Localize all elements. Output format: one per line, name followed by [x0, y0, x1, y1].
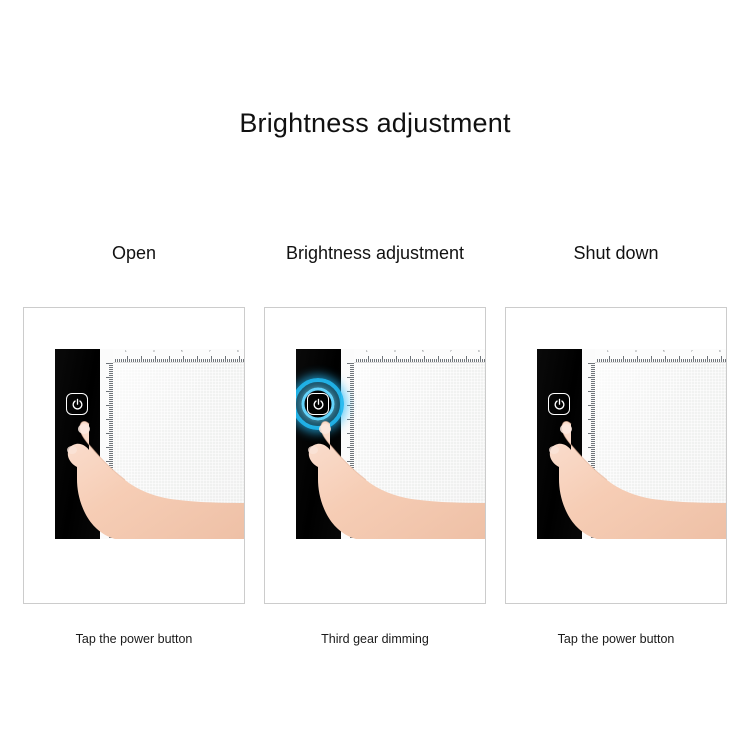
ruler-tick — [588, 377, 595, 378]
ruler-tick — [725, 359, 726, 362]
ruler-tick — [199, 359, 200, 362]
column-heading: Open — [112, 240, 156, 266]
ruler-tick — [137, 359, 138, 362]
product-photo: 13579 — [55, 349, 245, 539]
ruler-tick — [400, 359, 401, 362]
ruler-tick — [691, 359, 692, 362]
ruler-tick — [436, 359, 437, 362]
ruler-tick — [149, 359, 150, 362]
ruler-tick — [380, 359, 381, 362]
ruler-tick — [141, 356, 142, 362]
step-caption: Tap the power button — [558, 632, 675, 646]
ruler-tick — [347, 517, 354, 518]
ruler-tick — [629, 359, 630, 362]
ruler-tick — [426, 359, 427, 362]
ruler-tick — [347, 433, 354, 434]
ruler-tick — [376, 359, 377, 362]
ruler-tick — [106, 475, 113, 476]
ruler-tick — [121, 359, 122, 362]
ruler-tick — [360, 359, 361, 362]
ruler-tick — [619, 359, 620, 362]
ruler-tick — [106, 517, 113, 518]
ruler-tick — [627, 359, 628, 362]
ruler-tick — [155, 356, 156, 362]
device-bezel — [537, 349, 582, 539]
ruler-tick — [347, 531, 354, 532]
ruler-tick — [169, 356, 170, 362]
ruler-tick — [719, 359, 720, 362]
ruler-tick — [605, 359, 606, 362]
ruler-tick — [233, 359, 234, 362]
ruler-tick — [442, 359, 443, 362]
ruler-tick — [615, 359, 616, 362]
ruler-tick — [402, 359, 403, 362]
ruler-tick — [607, 359, 608, 362]
ruler-tick — [635, 359, 636, 362]
ruler-tick — [695, 359, 696, 362]
step-column-shutdown: Shut down 13579 — [504, 240, 728, 646]
ruler-tick — [115, 359, 116, 362]
ruler-tick — [466, 356, 467, 362]
ruler-tick — [456, 359, 457, 362]
ruler-tick — [106, 419, 113, 420]
ruler-tick — [679, 356, 680, 362]
ruler-tick — [147, 359, 148, 362]
ruler-tick — [219, 359, 220, 362]
ruler-tick — [665, 356, 666, 362]
ruler-tick — [709, 359, 710, 362]
product-photo: 13579 — [537, 349, 727, 539]
ruler-tick — [139, 359, 140, 362]
ruler-tick — [106, 363, 113, 364]
ruler-tick — [452, 356, 453, 362]
ruler-tick — [183, 356, 184, 362]
ruler-number: 3 — [153, 349, 155, 353]
ruler-tick — [701, 359, 702, 362]
ruler-tick — [347, 461, 354, 462]
product-card[interactable]: 13579 — [264, 307, 486, 604]
ruler-tick — [181, 359, 182, 362]
ruler-tick — [229, 359, 230, 362]
ruler-tick — [366, 359, 367, 362]
ruler-tick — [588, 447, 595, 448]
horizontal-ruler: 13579 — [354, 349, 486, 363]
ruler-tick — [657, 359, 658, 362]
ruler-tick — [647, 359, 648, 362]
ruler-tick — [412, 359, 413, 362]
ruler-tick — [217, 359, 218, 362]
power-icon[interactable] — [66, 393, 88, 415]
ruler-tick — [406, 359, 407, 362]
horizontal-ruler: 13579 — [113, 349, 245, 363]
steps-container: Open 13579 — [22, 240, 728, 646]
ruler-tick — [347, 377, 354, 378]
ruler-tick — [106, 489, 113, 490]
ruler-tick — [189, 359, 190, 362]
ruler-number: 7 — [450, 349, 452, 353]
ruler-tick — [603, 359, 604, 362]
ruler-tick — [191, 359, 192, 362]
ruler-tick — [422, 359, 423, 362]
ruler-tick — [205, 359, 206, 362]
ruler-tick — [464, 359, 465, 362]
ruler-tick — [394, 359, 395, 362]
page-title: Brightness adjustment — [0, 108, 750, 139]
ruler-tick — [362, 359, 363, 362]
ruler-tick — [175, 359, 176, 362]
ruler-tick — [482, 359, 483, 362]
ruler-tick — [478, 359, 479, 362]
ruler-tick — [458, 359, 459, 362]
ruler-tick — [611, 359, 612, 362]
ruler-tick — [372, 359, 373, 362]
ruler-tick — [440, 359, 441, 362]
ruler-tick — [717, 359, 718, 362]
ruler-tick — [655, 359, 656, 362]
ruler-tick — [693, 356, 694, 362]
ruler-tick — [663, 359, 664, 362]
device-bezel — [296, 349, 341, 539]
column-heading: Brightness adjustment — [286, 240, 464, 266]
ruler-tick — [374, 359, 375, 362]
ruler-tick — [368, 356, 369, 362]
ruler-tick — [157, 359, 158, 362]
ruler-tick — [153, 359, 154, 362]
ruler-tick — [131, 359, 132, 362]
ruler-tick — [347, 405, 354, 406]
ruler-tick — [643, 359, 644, 362]
ruler-tick — [633, 359, 634, 362]
ruler-tick — [476, 359, 477, 362]
ruler-tick — [241, 359, 242, 362]
ruler-tick — [683, 359, 684, 362]
ruler-tick — [106, 391, 113, 392]
ruler-tick — [347, 363, 354, 364]
column-heading: Shut down — [573, 240, 658, 266]
product-photo: 13579 — [296, 349, 486, 539]
ruler-tick — [347, 419, 354, 420]
ruler-tick — [396, 356, 397, 362]
ruler-tick — [639, 359, 640, 362]
step-column-open: Open 13579 — [22, 240, 246, 646]
ruler-number: 7 — [209, 349, 211, 353]
vertical-ruler — [100, 349, 114, 539]
ruler-tick — [370, 359, 371, 362]
ruler-tick — [713, 359, 714, 362]
ruler-tick — [588, 517, 595, 518]
ruler-tick — [641, 359, 642, 362]
ruler-number: 1 — [366, 349, 368, 353]
ruler-tick — [203, 359, 204, 362]
ruler-tick — [347, 391, 354, 392]
ruler-tick — [129, 359, 130, 362]
ruler-tick — [227, 359, 228, 362]
ruler-tick — [609, 356, 610, 362]
ruler-number: 9 — [719, 349, 721, 353]
ruler-tick — [671, 359, 672, 362]
ruler-tick — [659, 359, 660, 362]
ruler-number: 1 — [125, 349, 127, 353]
ruler-tick — [159, 359, 160, 362]
ruler-tick — [106, 503, 113, 504]
ruler-tick — [432, 359, 433, 362]
ruler-tick — [398, 359, 399, 362]
ruler-tick — [588, 489, 595, 490]
ruler-tick — [623, 356, 624, 362]
ruler-tick — [588, 433, 595, 434]
ruler-tick — [215, 359, 216, 362]
ruler-tick — [669, 359, 670, 362]
ruler-tick — [649, 359, 650, 362]
light-panel — [595, 349, 727, 539]
ruler-tick — [347, 489, 354, 490]
ruler-tick — [689, 359, 690, 362]
ruler-tick — [434, 359, 435, 362]
ruler-tick — [347, 447, 354, 448]
ruler-tick — [621, 359, 622, 362]
ruler-tick — [715, 359, 716, 362]
ruler-tick — [588, 405, 595, 406]
ruler-tick — [667, 359, 668, 362]
ruler-tick — [143, 359, 144, 362]
ruler-tick — [588, 461, 595, 462]
ruler-tick — [450, 359, 451, 362]
ruler-number: 7 — [691, 349, 693, 353]
ruler-tick — [673, 359, 674, 362]
ruler-tick — [119, 359, 120, 362]
ruler-tick — [613, 359, 614, 362]
ruler-tick — [127, 356, 128, 362]
ruler-tick — [213, 359, 214, 362]
ruler-tick — [165, 359, 166, 362]
ruler-number: 9 — [478, 349, 480, 353]
ruler-tick — [179, 359, 180, 362]
ruler-tick — [588, 503, 595, 504]
ruler-tick — [187, 359, 188, 362]
ruler-tick — [106, 461, 113, 462]
ruler-tick — [197, 356, 198, 362]
horizontal-ruler: 13579 — [595, 349, 727, 363]
ruler-tick — [588, 531, 595, 532]
ruler-tick — [410, 356, 411, 362]
vertical-ruler — [582, 349, 596, 539]
ruler-tick — [388, 359, 389, 362]
ruler-tick — [723, 359, 724, 362]
ruler-tick — [681, 359, 682, 362]
ruler-tick — [424, 356, 425, 362]
ruler-tick — [106, 405, 113, 406]
ruler-number: 5 — [422, 349, 424, 353]
ruler-tick — [358, 359, 359, 362]
ruler-tick — [145, 359, 146, 362]
ruler-tick — [420, 359, 421, 362]
ruler-tick — [470, 359, 471, 362]
ruler-tick — [588, 391, 595, 392]
ruler-tick — [106, 377, 113, 378]
ruler-tick — [707, 356, 708, 362]
ruler-tick — [106, 447, 113, 448]
ruler-tick — [446, 359, 447, 362]
ruler-number: 3 — [394, 349, 396, 353]
ruler-tick — [231, 359, 232, 362]
ruler-tick — [448, 359, 449, 362]
ruler-tick — [185, 359, 186, 362]
ruler-tick — [237, 359, 238, 362]
ruler-tick — [438, 356, 439, 362]
ruler-tick — [347, 503, 354, 504]
ruler-tick — [588, 363, 595, 364]
ruler-tick — [125, 359, 126, 362]
ruler-tick — [705, 359, 706, 362]
ruler-tick — [651, 356, 652, 362]
ruler-tick — [390, 359, 391, 362]
ruler-number: 9 — [237, 349, 239, 353]
ruler-tick — [460, 359, 461, 362]
ruler-number: 5 — [181, 349, 183, 353]
ruler-tick — [661, 359, 662, 362]
ruler-tick — [472, 359, 473, 362]
power-icon[interactable] — [548, 393, 570, 415]
light-panel — [354, 349, 486, 539]
ruler-tick — [167, 359, 168, 362]
ruler-tick — [117, 359, 118, 362]
ruler-tick — [106, 433, 113, 434]
step-caption: Tap the power button — [76, 632, 193, 646]
ruler-tick — [193, 359, 194, 362]
ruler-tick — [386, 359, 387, 362]
ruler-tick — [599, 359, 600, 362]
ruler-tick — [211, 356, 212, 362]
ruler-tick — [171, 359, 172, 362]
device-bezel — [55, 349, 100, 539]
vertical-ruler — [341, 349, 355, 539]
ruler-tick — [631, 359, 632, 362]
product-card[interactable]: 13579 — [23, 307, 245, 604]
ruler-tick — [444, 359, 445, 362]
ruler-tick — [161, 359, 162, 362]
ruler-tick — [364, 359, 365, 362]
ruler-tick — [404, 359, 405, 362]
ruler-tick — [597, 359, 598, 362]
ruler-tick — [123, 359, 124, 362]
ruler-tick — [201, 359, 202, 362]
ruler-tick — [430, 359, 431, 362]
ruler-tick — [625, 359, 626, 362]
ruler-tick — [173, 359, 174, 362]
ruler-tick — [711, 359, 712, 362]
ruler-tick — [177, 359, 178, 362]
ruler-tick — [588, 475, 595, 476]
ruler-tick — [225, 356, 226, 362]
ruler-tick — [384, 359, 385, 362]
ruler-tick — [677, 359, 678, 362]
ruler-tick — [135, 359, 136, 362]
ruler-number: 3 — [635, 349, 637, 353]
ruler-tick — [151, 359, 152, 362]
product-card[interactable]: 13579 — [505, 307, 727, 604]
ruler-tick — [133, 359, 134, 362]
power-icon[interactable] — [307, 393, 329, 415]
ruler-tick — [428, 359, 429, 362]
ruler-number: 1 — [607, 349, 609, 353]
ruler-tick — [418, 359, 419, 362]
ruler-tick — [588, 419, 595, 420]
ruler-tick — [484, 359, 485, 362]
ruler-tick — [474, 359, 475, 362]
ruler-tick — [223, 359, 224, 362]
ruler-tick — [235, 359, 236, 362]
ruler-tick — [637, 356, 638, 362]
ruler-tick — [675, 359, 676, 362]
ruler-tick — [416, 359, 417, 362]
ruler-tick — [703, 359, 704, 362]
ruler-tick — [468, 359, 469, 362]
ruler-tick — [243, 359, 244, 362]
ruler-tick — [209, 359, 210, 362]
step-caption: Third gear dimming — [321, 632, 429, 646]
ruler-tick — [685, 359, 686, 362]
ruler-tick — [699, 359, 700, 362]
ruler-tick — [697, 359, 698, 362]
ruler-tick — [163, 359, 164, 362]
ruler-tick — [382, 356, 383, 362]
ruler-tick — [645, 359, 646, 362]
ruler-tick — [462, 359, 463, 362]
ruler-tick — [414, 359, 415, 362]
ruler-number: 5 — [663, 349, 665, 353]
ruler-tick — [207, 359, 208, 362]
ruler-tick — [195, 359, 196, 362]
ruler-tick — [653, 359, 654, 362]
ruler-tick — [601, 359, 602, 362]
ruler-tick — [392, 359, 393, 362]
light-panel — [113, 349, 245, 539]
ruler-tick — [687, 359, 688, 362]
ruler-tick — [617, 359, 618, 362]
ruler-tick — [347, 475, 354, 476]
ruler-tick — [106, 531, 113, 532]
ruler-tick — [356, 359, 357, 362]
ruler-tick — [454, 359, 455, 362]
ruler-tick — [480, 356, 481, 362]
step-column-brightness: Brightness adjustment 13579 — [263, 240, 487, 646]
ruler-tick — [239, 356, 240, 362]
ruler-tick — [408, 359, 409, 362]
ruler-tick — [378, 359, 379, 362]
ruler-tick — [221, 359, 222, 362]
ruler-tick — [721, 356, 722, 362]
